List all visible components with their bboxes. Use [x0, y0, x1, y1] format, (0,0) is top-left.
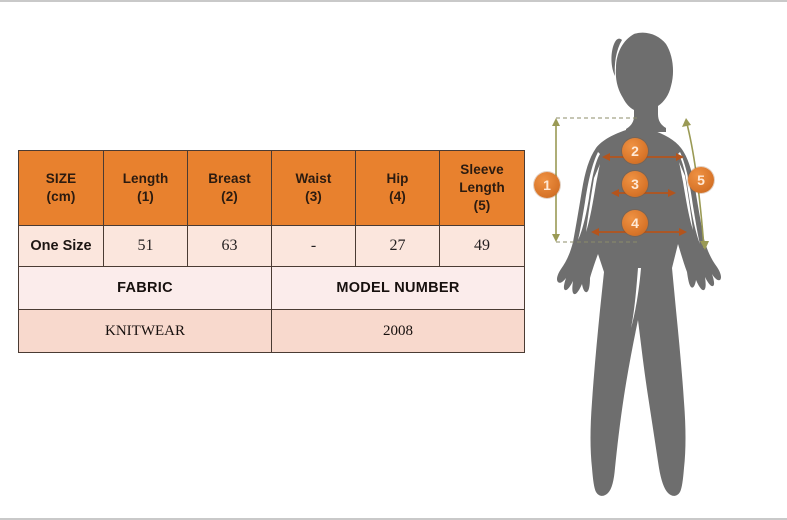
- measurement-marker-2: 2: [622, 138, 648, 164]
- column-header-size: SIZE (cm): [19, 151, 104, 226]
- measurement-marker-4: 4: [622, 210, 648, 236]
- column-header-sleeve-length: Sleeve Length (5): [440, 151, 525, 226]
- header-line-1: Breast: [188, 170, 271, 188]
- measurement-marker-5: 5: [688, 167, 714, 193]
- header-line-1: SIZE: [19, 170, 103, 188]
- cell-fabric-header: FABRIC: [19, 267, 272, 310]
- table-row: One Size 51 63 - 27 49: [19, 226, 525, 267]
- table-header-row: SIZE (cm) Length (1) Breast (2) Waist (3…: [19, 151, 525, 226]
- cell-size: One Size: [19, 226, 104, 267]
- header-line-2: Length: [440, 179, 524, 197]
- header-line-2: (2): [188, 188, 271, 206]
- header-line-1: Waist: [272, 170, 355, 188]
- meta-value-row: KNITWEAR 2008: [19, 310, 525, 353]
- top-divider: [0, 0, 787, 2]
- female-silhouette-diagram: [530, 10, 780, 510]
- measurement-marker-3: 3: [622, 171, 648, 197]
- column-header-breast: Breast (2): [188, 151, 272, 226]
- cell-length: 51: [104, 226, 188, 267]
- cell-hip: 27: [356, 226, 440, 267]
- size-chart-table: SIZE (cm) Length (1) Breast (2) Waist (3…: [18, 150, 525, 353]
- measurement-marker-1: 1: [534, 172, 560, 198]
- cell-waist: -: [272, 226, 356, 267]
- header-line-2: (1): [104, 188, 187, 206]
- header-line-2: (3): [272, 188, 355, 206]
- size-chart-page: SIZE (cm) Length (1) Breast (2) Waist (3…: [0, 0, 787, 520]
- header-line-1: Length: [104, 170, 187, 188]
- size-table-head: SIZE (cm) Length (1) Breast (2) Waist (3…: [19, 151, 525, 226]
- header-line-2: (4): [356, 188, 439, 206]
- header-line-3: (5): [440, 197, 524, 215]
- column-header-length: Length (1): [104, 151, 188, 226]
- cell-model-number-header: MODEL NUMBER: [272, 267, 525, 310]
- cell-breast: 63: [188, 226, 272, 267]
- measurement-figure-panel: 1 2 3 4 5: [530, 10, 780, 510]
- female-body-silhouette: [557, 33, 721, 496]
- size-table-body: One Size 51 63 - 27 49 FABRIC MODEL NUMB…: [19, 226, 525, 353]
- cell-fabric-value: KNITWEAR: [19, 310, 272, 353]
- cell-sleeve-length: 49: [440, 226, 525, 267]
- header-line-1: Hip: [356, 170, 439, 188]
- header-line-1: Sleeve: [440, 161, 524, 179]
- cell-model-number-value: 2008: [272, 310, 525, 353]
- header-line-2: (cm): [19, 188, 103, 206]
- meta-header-row: FABRIC MODEL NUMBER: [19, 267, 525, 310]
- column-header-hip: Hip (4): [356, 151, 440, 226]
- column-header-waist: Waist (3): [272, 151, 356, 226]
